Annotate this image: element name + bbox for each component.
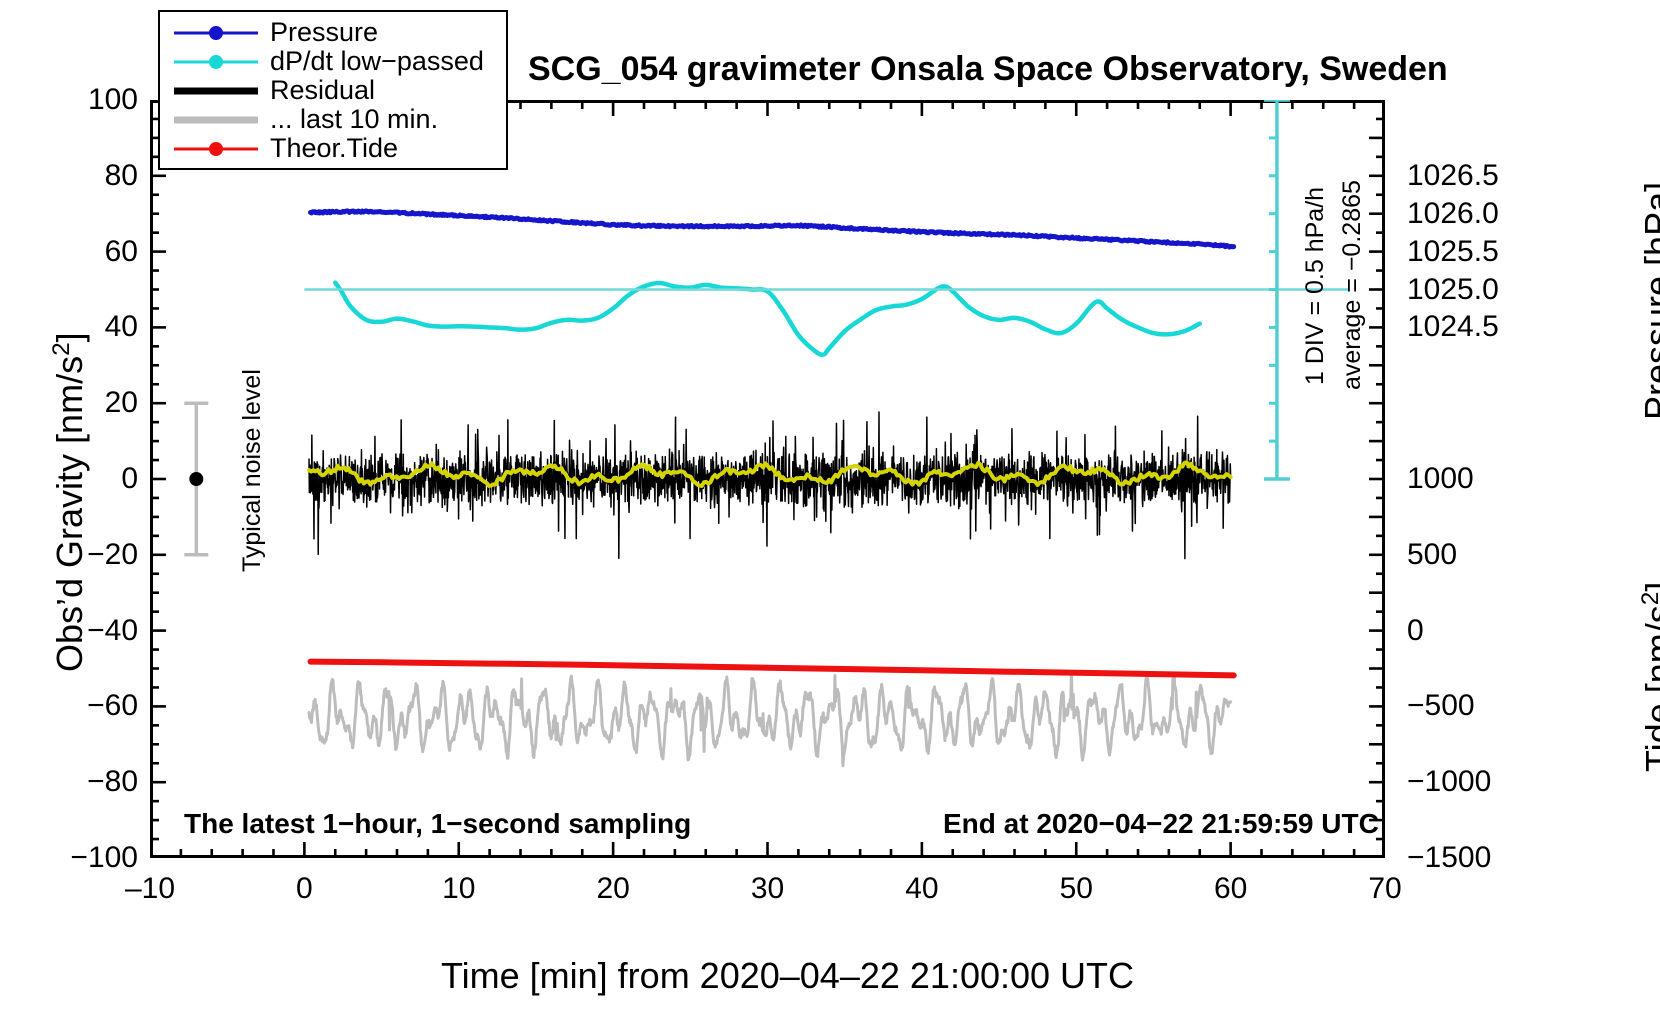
noise-bar-center-dot — [189, 472, 203, 486]
x-tick-label: ‒10 — [90, 874, 210, 904]
dpdt-scale-label: 1 DIV = 0.5 hPa/h — [1301, 187, 1330, 385]
y-axis-title-right-pressure-text: Pressure [hPa] — [1637, 182, 1660, 420]
y-tick-label-left: 60 — [22, 237, 138, 267]
legend-item-pressure[interactable]: Pressure — [160, 18, 506, 47]
y-tick-label-tide: 0 — [1407, 616, 1557, 646]
x-tick-label: 60 — [1171, 874, 1291, 904]
x-tick-label: 0 — [244, 874, 364, 904]
x-tick-label: 50 — [1016, 874, 1136, 904]
legend-label-residual: Residual — [258, 75, 375, 106]
y-tick-label-pressure: 1026.5 — [1407, 161, 1547, 191]
legend-item-last10min[interactable]: ... last 10 min. — [160, 105, 506, 134]
chart-canvas: SCG_054 gravimeter Onsala Space Observat… — [0, 0, 1660, 1020]
x-tick-label: 20 — [553, 874, 673, 904]
y-tick-label-left: 20 — [22, 388, 138, 418]
x-tick-label: 70 — [1325, 874, 1445, 904]
x-axis-title-text: Time [min] from 2020‒04‒22 21:00:00 UTC — [441, 955, 1134, 996]
legend-label-theortide: Theor.Tide — [258, 133, 398, 164]
annotation-bottom-right: End at 2020−04−22 21:59:59 UTC — [943, 808, 1379, 840]
chart-title: SCG_054 gravimeter Onsala Space Observat… — [528, 50, 1448, 89]
legend-swatch-theortide — [174, 137, 258, 161]
legend-label-last10min: ... last 10 min. — [258, 104, 438, 135]
x-tick-label: 40 — [862, 874, 982, 904]
series-theor-tide — [311, 662, 1234, 676]
y-axis-title-right-tide: Tide [nm/s2] — [1637, 582, 1660, 772]
annotation-bottom-left: The latest 1−hour, 1−second sampling — [184, 808, 691, 840]
legend-label-pressure: Pressure — [258, 17, 378, 48]
plot-area — [150, 100, 1385, 858]
y-tick-label-pressure: 1025.0 — [1407, 275, 1547, 305]
y-tick-label-left: −80 — [22, 767, 138, 797]
y-tick-label-tide: −1000 — [1407, 767, 1557, 797]
y-axis-title-right-pressure: Pressure [hPa] — [1637, 182, 1660, 420]
y-tick-label-left: 100 — [22, 85, 138, 115]
y-tick-label-left: −40 — [22, 616, 138, 646]
series-last-10-min — [309, 671, 1231, 766]
series-residual — [309, 412, 1231, 559]
legend-swatch-dpdt — [174, 50, 258, 74]
x-tick-label: 30 — [708, 874, 828, 904]
y-tick-label-left: 80 — [22, 161, 138, 191]
y-tick-label-left: 40 — [22, 312, 138, 342]
dpdt-average-label: average = −0.2865 — [1338, 180, 1367, 390]
y-tick-label-pressure: 1024.5 — [1407, 312, 1547, 342]
y-tick-label-pressure: 1026.0 — [1407, 199, 1547, 229]
y-tick-label-left: 0 — [22, 464, 138, 494]
legend: Pressure dP/dt low−passed Residual ... l… — [158, 10, 508, 170]
y-tick-label-left: −20 — [22, 540, 138, 570]
legend-swatch-last10min — [174, 108, 258, 132]
y-tick-label-tide: −500 — [1407, 691, 1557, 721]
legend-label-dpdt: dP/dt low−passed — [258, 46, 484, 77]
legend-item-theortide[interactable]: Theor.Tide — [160, 134, 506, 163]
y-tick-label-pressure: 1025.5 — [1407, 237, 1547, 267]
y-axis-title-right-tide-text: Tide [nm/s2] — [1638, 582, 1660, 772]
y-tick-label-left: −60 — [22, 691, 138, 721]
series-pressure — [311, 211, 1234, 247]
legend-item-residual[interactable]: Residual — [160, 76, 506, 105]
x-tick-label: 10 — [399, 874, 519, 904]
y-tick-label-tide: 500 — [1407, 540, 1557, 570]
x-axis-title: Time [min] from 2020‒04‒22 21:00:00 UTC — [441, 955, 1134, 997]
y-tick-label-tide: 1000 — [1407, 464, 1557, 494]
y-tick-label-tide: −1500 — [1407, 843, 1557, 873]
series-dpdt-lowpassed — [335, 283, 1200, 355]
legend-item-dpdt[interactable]: dP/dt low−passed — [160, 47, 506, 76]
noise-bar-label: Typical noise level — [238, 369, 267, 572]
legend-swatch-pressure — [174, 21, 258, 45]
y-tick-label-left: −100 — [22, 843, 138, 873]
legend-swatch-residual — [174, 79, 258, 103]
